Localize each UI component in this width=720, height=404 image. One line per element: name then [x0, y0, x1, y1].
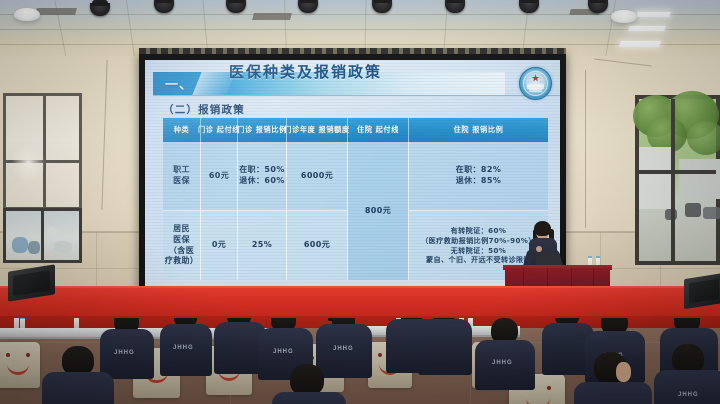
th-op-ratio: 门诊 报销比例 — [238, 118, 287, 142]
stage-monitor-speaker — [684, 273, 720, 309]
cell-op-deductible: 0元 — [201, 211, 238, 280]
window-left-lower — [3, 208, 82, 263]
moving-head-light — [620, 266, 646, 296]
th-ip-ratio: 住院 报销比例 — [409, 118, 548, 142]
presentation-slide: 一、 医保种类及报销政策 （二）报销政策 种类 门诊 起付线 — [145, 60, 560, 289]
ceiling-dome-light — [14, 8, 40, 21]
cell-op-annual-cap: 6000元 — [287, 142, 348, 211]
cell-op-deductible: 60元 — [201, 142, 238, 211]
cell-op-ratio: 在职：50% 退休：60% — [238, 142, 287, 211]
organization-emblem-icon — [519, 67, 552, 100]
th-category: 种类 — [163, 118, 201, 142]
moving-head-light — [44, 262, 70, 292]
water-bottle — [14, 318, 19, 329]
cell-ip-ratio: 在职：82% 退休：85% — [409, 142, 548, 211]
moving-head-light — [80, 262, 106, 292]
led-display-screen[interactable]: 一、 医保种类及报销政策 （二）报销政策 种类 门诊 起付线 — [139, 54, 566, 294]
water-bottle — [74, 318, 79, 329]
table-header-row: 种类 门诊 起付线 门诊 报销比例 门诊年度 报销额度 住院 起付线 住院 报销… — [163, 118, 548, 142]
table-body: 职工 医保 60元 在职：50% 退休：60% 6000元 在职：82% 退休：… — [163, 142, 548, 280]
water-bottle — [20, 318, 25, 330]
slide-title: 医保种类及报销政策 — [229, 61, 382, 82]
cell-op-ratio: 25% — [238, 211, 287, 280]
title-underline — [153, 95, 560, 96]
photo-scene: 一、 医保种类及报销政策 （二）报销政策 种类 门诊 起付线 — [0, 0, 720, 404]
audience-chair — [0, 342, 40, 388]
ceiling-dome-light — [611, 10, 637, 23]
cell-category: 职工 医保 — [163, 142, 201, 211]
moving-head-light — [116, 262, 142, 292]
slide-subtitle: （二）报销政策 — [163, 102, 245, 117]
screen-top-trim — [139, 48, 566, 54]
audience-area: JHHG JHHG JHHG JHHG — [0, 318, 720, 404]
cell-category: 居民 医保 （含医 疗救助） — [163, 211, 201, 280]
cell-ip-deductible-merged: 800元 — [348, 142, 409, 280]
policy-table: 种类 门诊 起付线 门诊 报销比例 门诊年度 报销额度 住院 起付线 住院 报销… — [163, 118, 548, 280]
window-right — [635, 95, 720, 265]
slide-section-number: 一、 — [165, 74, 193, 93]
th-op-deductible: 门诊 起付线 — [201, 118, 238, 142]
meeting-room: 一、 医保种类及报销政策 （二）报销政策 种类 门诊 起付线 — [0, 0, 720, 404]
th-ip-deductible: 住院 起付线 — [348, 118, 409, 142]
th-op-annual-cap: 门诊年度 报销额度 — [287, 118, 348, 142]
window-left-blinds — [3, 93, 82, 210]
screen-surface: 一、 医保种类及报销政策 （二）报销政策 种类 门诊 起付线 — [145, 60, 560, 289]
wall-crack — [585, 70, 586, 228]
cell-op-annual-cap: 600元 — [287, 211, 348, 280]
moving-head-light — [655, 266, 681, 296]
